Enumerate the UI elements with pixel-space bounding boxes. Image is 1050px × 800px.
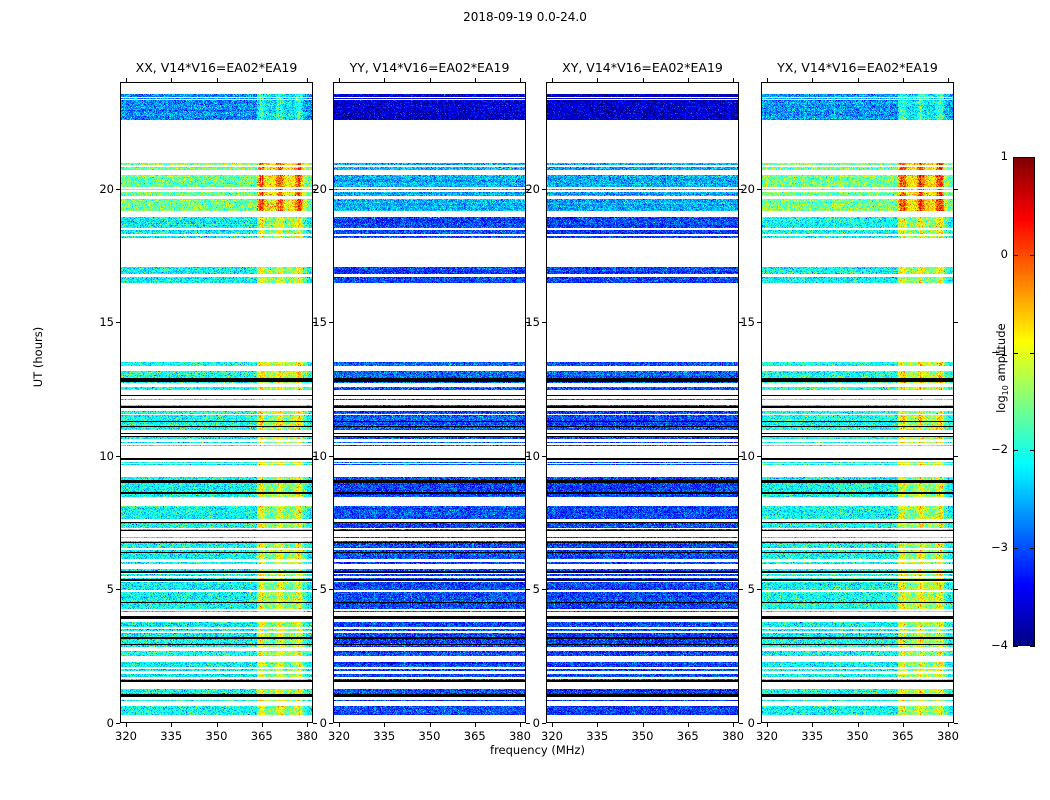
x-tick-mark (858, 723, 859, 727)
y-tick-mark (116, 456, 120, 457)
x-tick-mark-top (126, 78, 127, 82)
x-tick-mark-top (307, 78, 308, 82)
y-tick-mark (542, 589, 546, 590)
x-tick-mark-top (262, 78, 263, 82)
x-tick-mark (171, 723, 172, 727)
heatmap-panel-xx (120, 82, 313, 723)
y-tick-mark (329, 589, 333, 590)
x-tick-label: 350 (410, 729, 450, 743)
colorbar (1013, 157, 1035, 646)
x-tick-mark (126, 723, 127, 727)
figure-canvas: 2018-09-19 0.0-24.0 XX, V14*V16=EA02*EA1… (0, 0, 1050, 800)
y-tick-label: 15 (88, 315, 114, 329)
x-tick-mark (688, 723, 689, 727)
y-tick-mark (757, 723, 761, 724)
x-tick-mark-top (948, 78, 949, 82)
x-tick-mark (643, 723, 644, 727)
y-tick-mark (329, 322, 333, 323)
x-tick-label: 365 (242, 729, 282, 743)
x-tick-label: 335 (792, 729, 832, 743)
colorbar-label-text: log10 amplitude (994, 323, 1008, 413)
y-tick-mark (542, 322, 546, 323)
colorbar-tick-mark-right (1030, 548, 1035, 549)
y-tick-mark (116, 723, 120, 724)
y-tick-label: 20 (88, 182, 114, 196)
y-tick-mark (757, 589, 761, 590)
y-axis-label: UT (hours) (31, 297, 45, 417)
y-tick-label: 15 (514, 315, 540, 329)
x-tick-label: 335 (577, 729, 617, 743)
y-tick-label: 15 (729, 315, 755, 329)
y-tick-mark (116, 322, 120, 323)
colorbar-tick-mark (1013, 450, 1018, 451)
y-tick-label: 10 (88, 449, 114, 463)
y-tick-mark (757, 456, 761, 457)
y-tick-mark (542, 723, 546, 724)
heatmap-panel-yx (761, 82, 954, 723)
x-tick-label: 350 (623, 729, 663, 743)
x-tick-mark-top (733, 78, 734, 82)
y-tick-mark (542, 456, 546, 457)
x-tick-label: 320 (532, 729, 572, 743)
y-tick-label: 5 (729, 582, 755, 596)
x-tick-mark (475, 723, 476, 727)
y-tick-label: 10 (514, 449, 540, 463)
x-tick-label: 320 (747, 729, 787, 743)
panel-title-xy: XY, V14*V16=EA02*EA19 (546, 60, 739, 75)
y-tick-mark-right (954, 456, 958, 457)
x-tick-label: 365 (455, 729, 495, 743)
colorbar-tick-mark (1013, 353, 1018, 354)
y-tick-label: 5 (514, 582, 540, 596)
x-tick-mark (597, 723, 598, 727)
y-tick-label: 15 (301, 315, 327, 329)
colorbar-tick-mark (1013, 255, 1018, 256)
x-tick-mark-top (643, 78, 644, 82)
panel-title-yx: YX, V14*V16=EA02*EA19 (761, 60, 954, 75)
x-tick-label: 335 (364, 729, 404, 743)
x-tick-mark-top (520, 78, 521, 82)
colorbar-tick-mark-right (1030, 646, 1035, 647)
y-tick-label: 0 (88, 716, 114, 730)
colorbar-tick-label: 0 (978, 247, 1008, 261)
x-tick-label: 350 (197, 729, 237, 743)
y-tick-mark-right (954, 189, 958, 190)
y-tick-label: 5 (301, 582, 327, 596)
x-tick-mark (339, 723, 340, 727)
x-tick-mark (262, 723, 263, 727)
x-tick-label: 320 (319, 729, 359, 743)
x-tick-mark (948, 723, 949, 727)
heatmap-panel-xy (546, 82, 739, 723)
x-tick-mark-top (597, 78, 598, 82)
x-tick-mark (552, 723, 553, 727)
x-tick-mark-top (767, 78, 768, 82)
y-tick-mark-right (954, 723, 958, 724)
x-axis-label: frequency (MHz) (120, 743, 955, 757)
panel-title-xx: XX, V14*V16=EA02*EA19 (120, 60, 313, 75)
x-tick-label: 320 (106, 729, 146, 743)
heatmap-panel-yy (333, 82, 526, 723)
x-tick-label: 350 (838, 729, 878, 743)
x-tick-mark (430, 723, 431, 727)
x-tick-mark-top (339, 78, 340, 82)
colorbar-tick-mark-right (1030, 450, 1035, 451)
colorbar-tick-mark (1013, 157, 1018, 158)
y-tick-label: 0 (301, 716, 327, 730)
panel-title-yy: YY, V14*V16=EA02*EA19 (333, 60, 526, 75)
colorbar-tick-label: −4 (978, 638, 1008, 652)
x-tick-mark-top (171, 78, 172, 82)
y-tick-mark (542, 189, 546, 190)
x-tick-mark-top (858, 78, 859, 82)
figure-suptitle: 2018-09-19 0.0-24.0 (0, 10, 1050, 24)
x-tick-mark-top (475, 78, 476, 82)
y-tick-mark (329, 456, 333, 457)
colorbar-tick-mark-right (1030, 157, 1035, 158)
y-tick-label: 0 (514, 716, 540, 730)
y-tick-label: 0 (729, 716, 755, 730)
x-tick-mark-top (430, 78, 431, 82)
x-tick-mark (767, 723, 768, 727)
x-tick-label: 365 (668, 729, 708, 743)
y-tick-mark (757, 322, 761, 323)
x-tick-mark-top (688, 78, 689, 82)
y-tick-mark (116, 189, 120, 190)
x-tick-mark-top (384, 78, 385, 82)
y-tick-mark (757, 189, 761, 190)
y-tick-mark-right (954, 322, 958, 323)
x-tick-mark-top (217, 78, 218, 82)
y-tick-label: 5 (88, 582, 114, 596)
colorbar-tick-mark-right (1030, 255, 1035, 256)
y-tick-mark (329, 189, 333, 190)
x-tick-mark (384, 723, 385, 727)
y-tick-label: 10 (729, 449, 755, 463)
colorbar-tick-label: 1 (978, 149, 1008, 163)
x-tick-mark-top (903, 78, 904, 82)
y-tick-mark (116, 589, 120, 590)
colorbar-tick-mark (1013, 646, 1018, 647)
x-tick-label: 365 (883, 729, 923, 743)
colorbar-tick-label: −3 (978, 540, 1008, 554)
x-tick-mark (217, 723, 218, 727)
x-tick-mark-top (812, 78, 813, 82)
y-tick-label: 20 (514, 182, 540, 196)
y-tick-mark (329, 723, 333, 724)
y-tick-label: 10 (301, 449, 327, 463)
x-tick-mark (812, 723, 813, 727)
x-tick-label: 335 (151, 729, 191, 743)
colorbar-tick-mark (1013, 548, 1018, 549)
y-tick-label: 20 (301, 182, 327, 196)
y-tick-mark-right (954, 589, 958, 590)
x-tick-mark (903, 723, 904, 727)
y-tick-label: 20 (729, 182, 755, 196)
colorbar-label: log10 amplitude (994, 288, 1010, 448)
colorbar-tick-mark-right (1030, 353, 1035, 354)
x-tick-mark-top (552, 78, 553, 82)
x-tick-label: 380 (928, 729, 968, 743)
